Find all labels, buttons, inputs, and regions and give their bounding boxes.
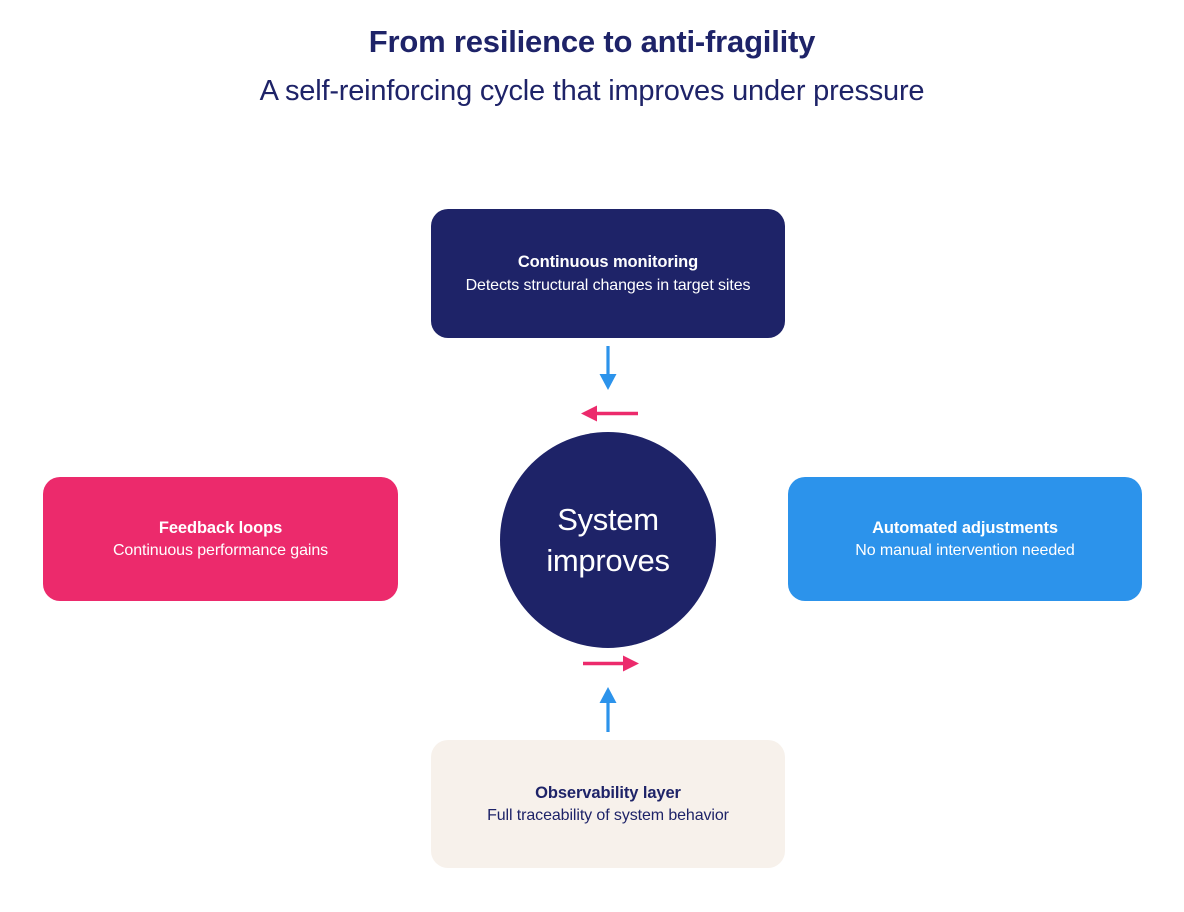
connector-observability-to-center <box>588 682 628 739</box>
arrow-left-icon <box>570 402 650 426</box>
arrow-right-icon <box>570 652 650 676</box>
node-description: Detects structural changes in target sit… <box>466 275 751 296</box>
page-title: From resilience to anti-fragility <box>0 24 1184 60</box>
connector-center-to-feedback <box>570 402 650 431</box>
node-title: Feedback loops <box>159 517 282 539</box>
node-description: No manual intervention needed <box>855 540 1074 561</box>
node-description: Full traceability of system behavior <box>487 805 729 826</box>
node-description: Continuous performance gains <box>113 540 328 561</box>
page-subtitle: A self-reinforcing cycle that improves u… <box>0 74 1184 109</box>
node-feedback-loops[interactable]: Feedback loops Continuous performance ga… <box>43 477 398 601</box>
node-title: Continuous monitoring <box>518 251 698 273</box>
arrow-down-icon <box>588 344 628 394</box>
node-observability-layer[interactable]: Observability layer Full traceability of… <box>431 740 785 868</box>
arrow-up-icon <box>588 682 628 734</box>
connector-monitoring-to-center <box>588 344 628 399</box>
diagram-canvas: From resilience to anti-fragility A self… <box>0 0 1184 912</box>
node-title: Observability layer <box>535 782 681 804</box>
node-title: Automated adjustments <box>872 517 1058 539</box>
node-continuous-monitoring[interactable]: Continuous monitoring Detects structural… <box>431 209 785 338</box>
node-automated-adjustments[interactable]: Automated adjustments No manual interven… <box>788 477 1142 601</box>
center-node-label: System improves <box>500 499 716 581</box>
diagram-header: From resilience to anti-fragility A self… <box>0 24 1184 108</box>
connector-center-to-automated <box>570 652 650 681</box>
center-node-system-improves[interactable]: System improves <box>500 432 716 648</box>
